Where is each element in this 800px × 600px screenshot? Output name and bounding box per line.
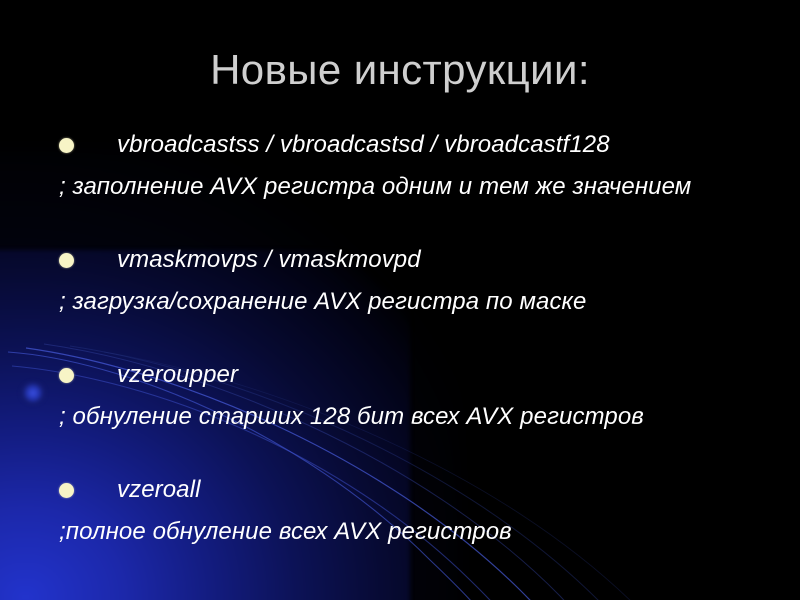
bullet-group: vmaskmovps / vmaskmovpd ; загрузка/сохра…: [0, 243, 800, 358]
bullet-group: vzeroall ;полное обнуление всех AVX реги…: [0, 473, 800, 588]
bullet-description-label: ; загрузка/сохранение AVX регистра по ма…: [59, 285, 586, 319]
bullet-dot-icon: [59, 368, 74, 383]
bullet-dot-icon: [59, 138, 74, 153]
presentation-slide: Новые инструкции: vbroadcastss / vbroadc…: [0, 0, 800, 600]
bullet-group: vbroadcastss / vbroadcastsd / vbroadcast…: [0, 128, 800, 243]
bullet-description: ; обнуление старших 128 бит всех AVX рег…: [59, 400, 800, 434]
bullet-item: vmaskmovps / vmaskmovpd: [59, 243, 800, 281]
bullet-dot-icon: [59, 483, 74, 498]
bullet-description: ; загрузка/сохранение AVX регистра по ма…: [59, 285, 800, 319]
bullet-dot-icon: [59, 253, 74, 268]
bullet-description-label: ;полное обнуление всех AVX регистров: [59, 515, 512, 549]
bullet-description: ;полное обнуление всех AVX регистров: [59, 515, 800, 549]
bullet-item: vbroadcastss / vbroadcastsd / vbroadcast…: [59, 128, 800, 166]
bullet-label: vbroadcastss / vbroadcastsd / vbroadcast…: [117, 128, 610, 162]
bullet-label: vmaskmovps / vmaskmovpd: [117, 243, 421, 277]
bullet-description-label: ; заполнение AVX регистра одним и тем же…: [59, 170, 691, 204]
bullet-item: vzeroupper: [59, 358, 800, 396]
bullet-description-label: ; обнуление старших 128 бит всех AVX рег…: [59, 400, 644, 434]
bullet-item: vzeroall: [59, 473, 800, 511]
bullet-description: ; заполнение AVX регистра одним и тем же…: [59, 170, 800, 204]
slide-title: Новые инструкции:: [0, 46, 800, 94]
bullet-group: vzeroupper ; обнуление старших 128 бит в…: [0, 358, 800, 473]
slide-content: vbroadcastss / vbroadcastsd / vbroadcast…: [0, 128, 800, 588]
bullet-label: vzeroupper: [117, 358, 238, 392]
bullet-label: vzeroall: [117, 473, 201, 507]
